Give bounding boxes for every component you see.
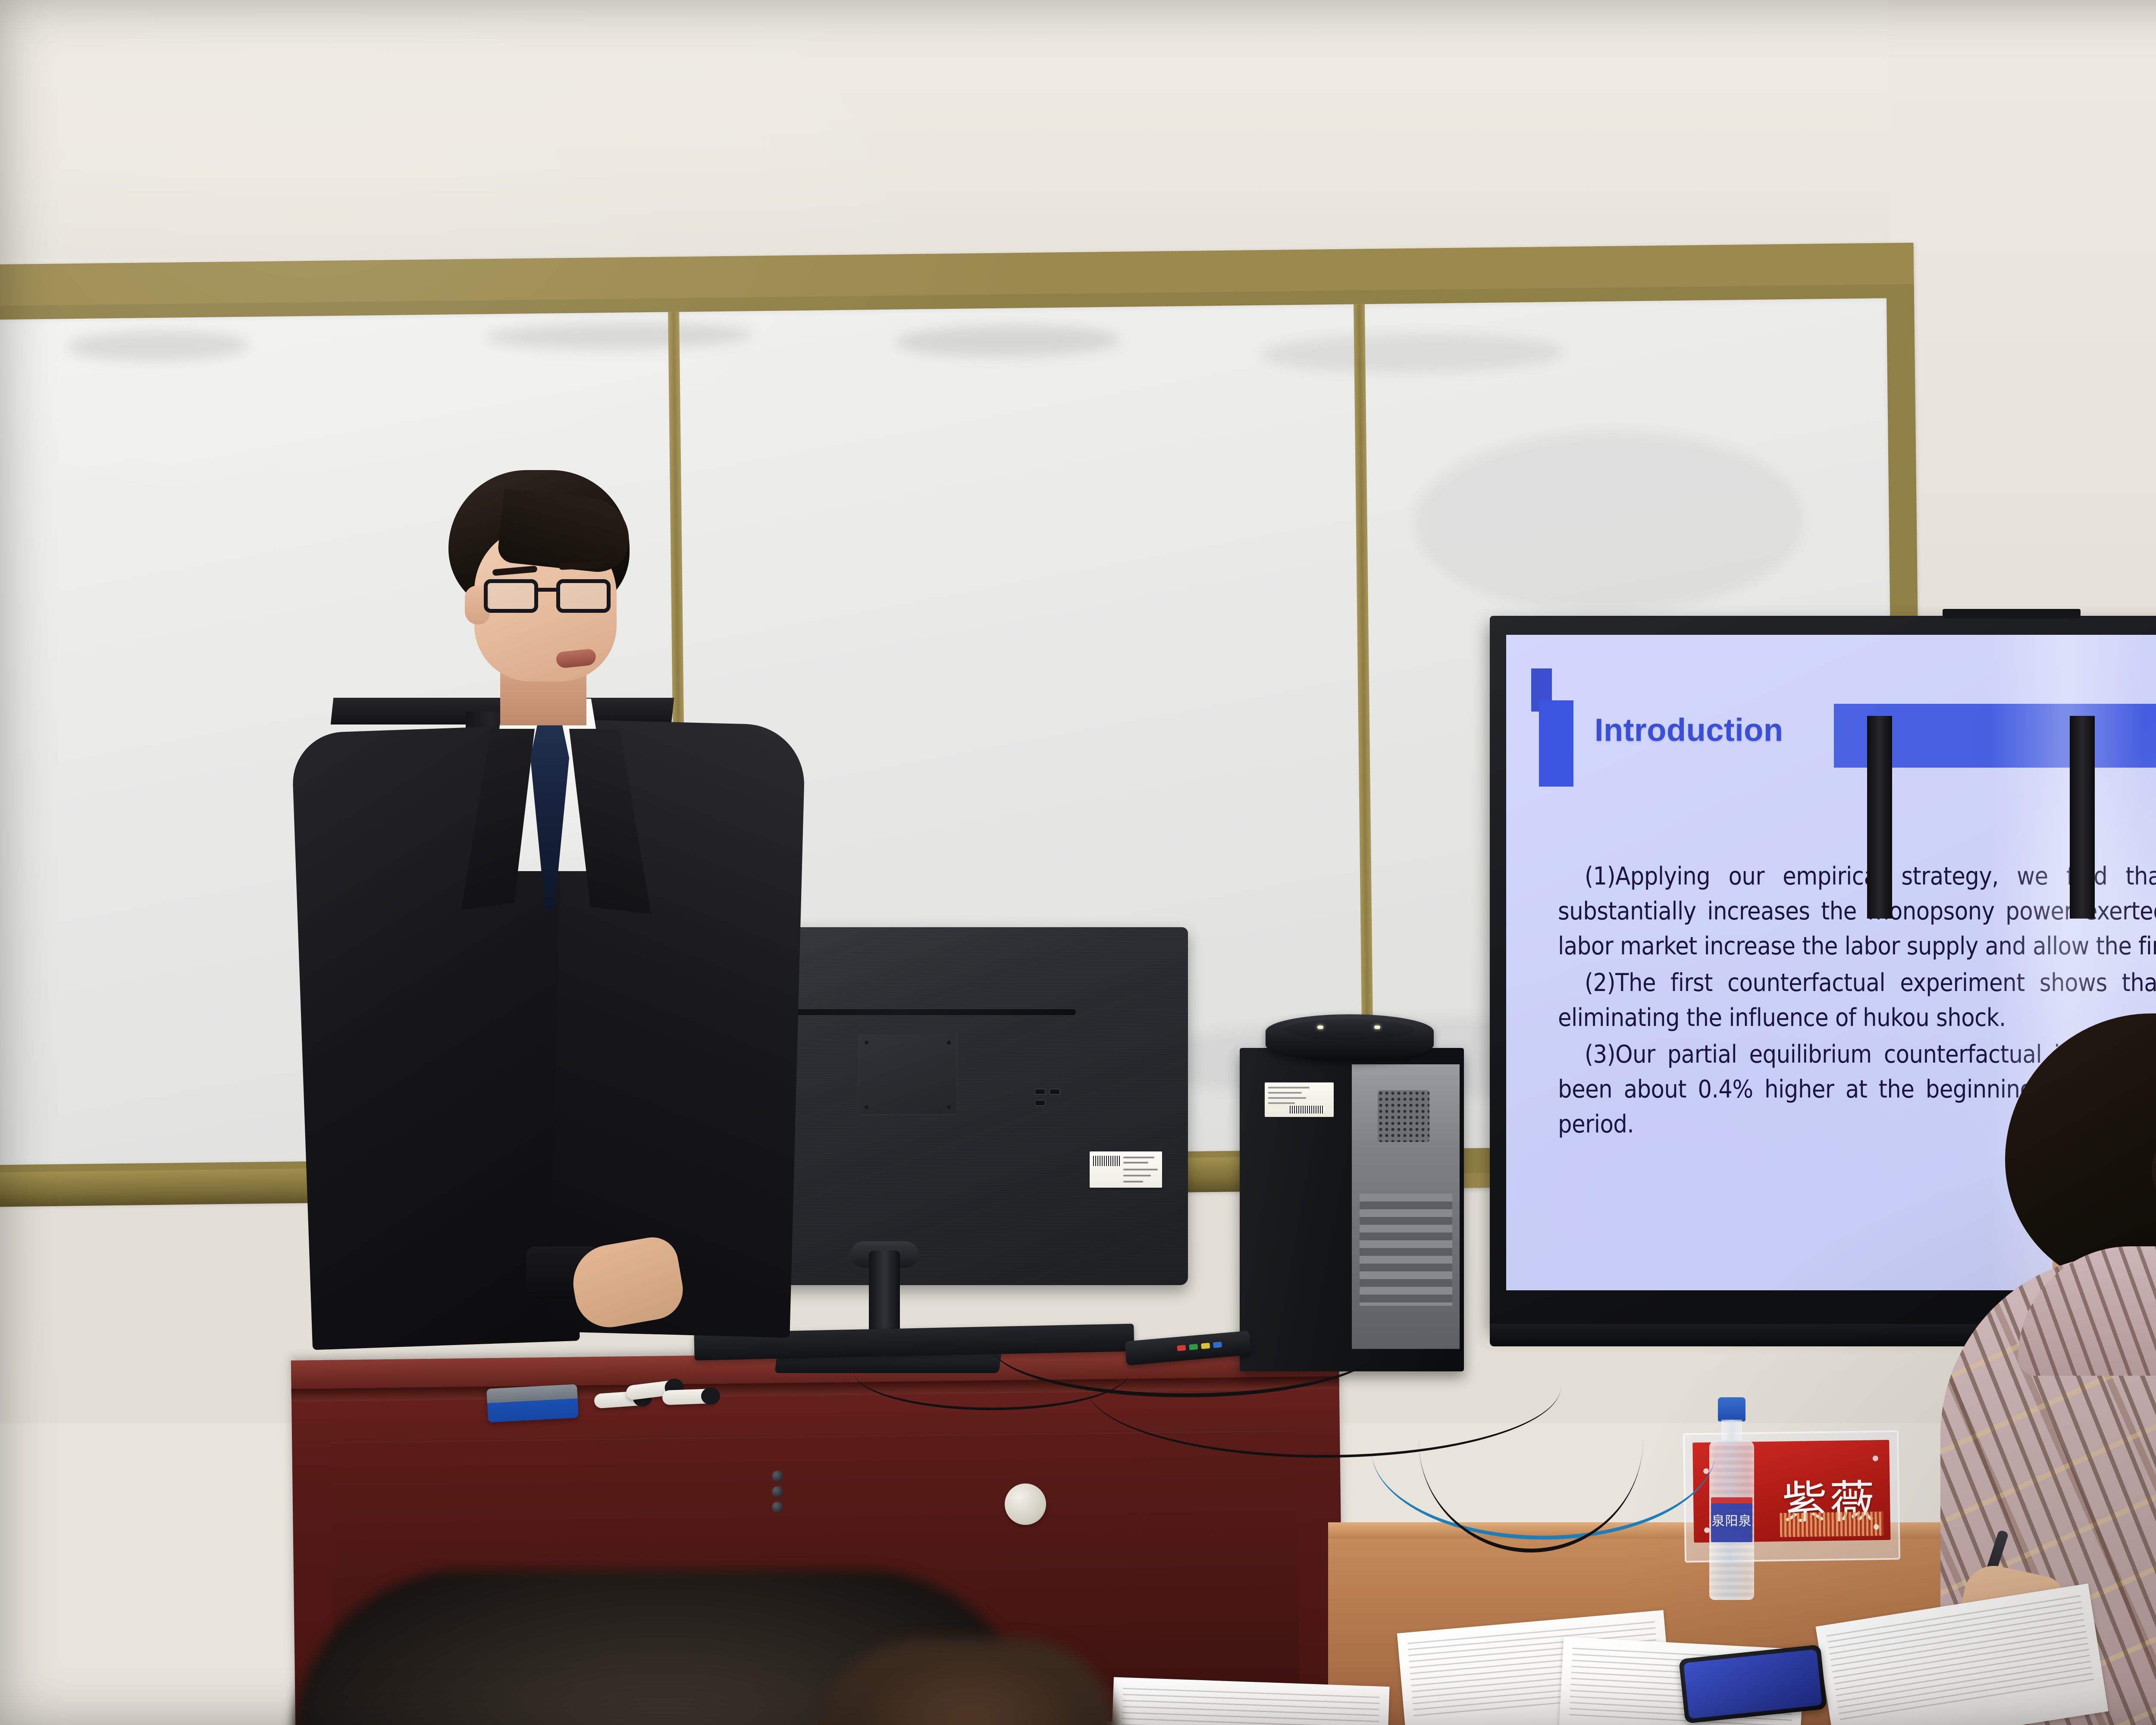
bottle-brand-label-left: 泉阳泉 [1711,1510,1752,1529]
nameplate-building-graphic [1780,1512,1884,1537]
presenter-glasses-icon [484,576,622,617]
port-label-vga: VGA [1748,1333,1761,1339]
port-label-pc: PC [1922,1333,1931,1339]
slide-decor-square-bottom [1539,700,1573,787]
slide-title: Introduction [1595,712,1783,748]
smartboard-stand-leg-left [1867,716,1892,919]
slide-paragraph-1: (1)Applying our empirical strategy, we f… [1558,859,2156,964]
wall-upper [0,0,2156,276]
monitor-port-cluster [1035,1089,1069,1119]
committee-member-shawl-collar [2018,1246,2156,1376]
classroom-scene: Introduction ❉ 吉林大学 (1)Applying our empi… [0,0,2156,1725]
water-bottle-left[interactable]: 泉阳泉 [1708,1397,1756,1600]
pc-asset-label [1265,1082,1334,1117]
presenter-person [298,470,845,1410]
presenter-jacket-buttons [772,1471,783,1517]
port-label-av: AV [1860,1333,1868,1339]
pc-rear-io-panel [1352,1064,1460,1349]
port-label-tv: TV [1891,1333,1899,1339]
monitor-asset-label [1090,1151,1162,1188]
pc-expansion-slots [1360,1194,1452,1306]
smartboard-camera-bar [1943,609,2081,618]
port-label-dvi: DVI [1714,1333,1725,1339]
monitor-vesa-plate [858,1035,957,1115]
port-label-hdmi: HDMI [1784,1333,1800,1339]
smartboard-stand-leg-right [2070,716,2095,919]
pc-fan-grille [1378,1090,1429,1142]
conference-speakerphone[interactable] [1266,1014,1434,1062]
podium-knob[interactable] [1005,1483,1046,1525]
port-label-usb: USB [1824,1333,1836,1339]
